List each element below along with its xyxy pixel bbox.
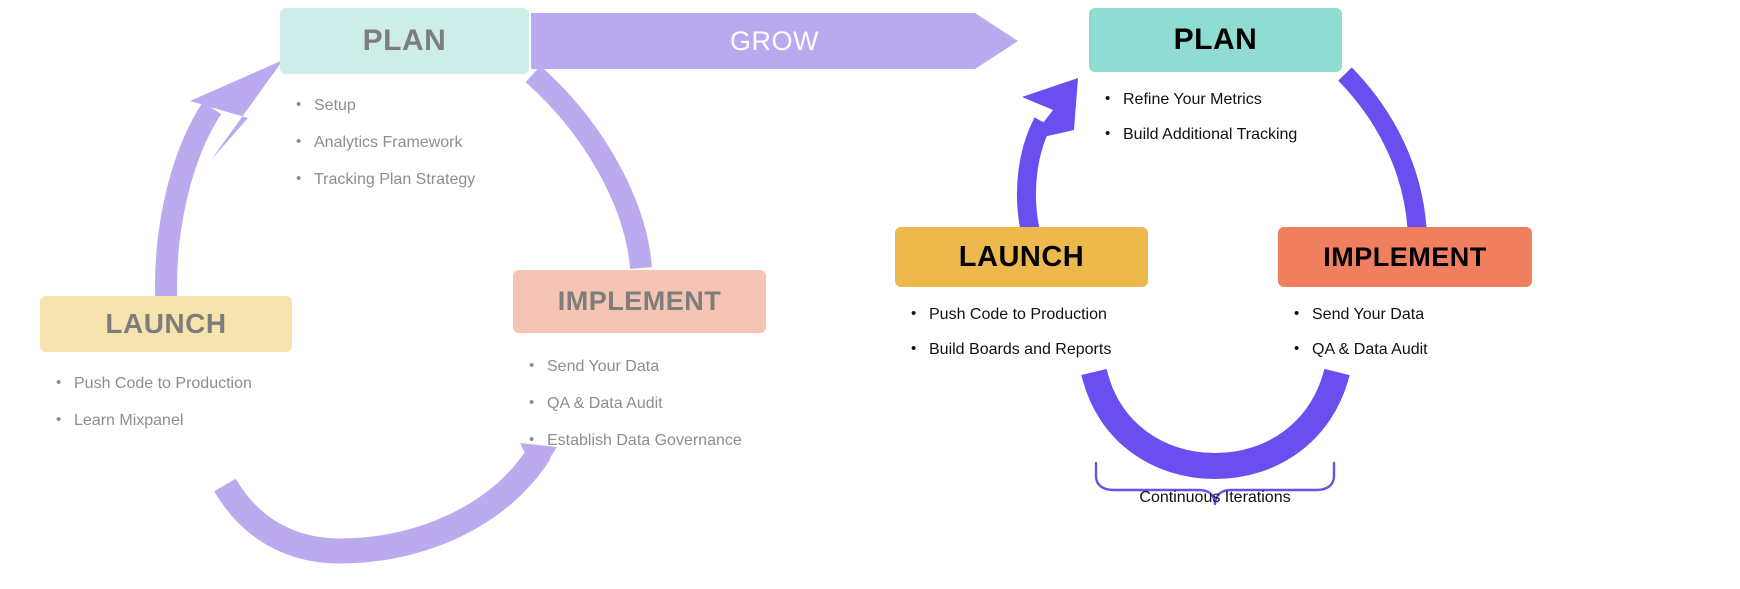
list-item: • QA & Data Audit [1294,340,1532,359]
node-launch-growth-header: LAUNCH [895,227,1148,287]
list-item: • Send Your Data [529,357,766,376]
bullet-label: Establish Data Governance [547,431,766,450]
bullet-label: Analytics Framework [314,133,529,152]
node-plan-initial: PLAN • Setup • Analytics Framework • Tra… [280,8,529,190]
continuous-iterations-text: Continuous Iterations [1139,489,1290,506]
node-launch-growth-title: LAUNCH [959,241,1084,274]
bullet-label: QA & Data Audit [1312,340,1532,359]
bullet-icon: • [56,374,74,393]
node-launch-initial-header: LAUNCH [40,296,292,352]
grow-banner: GROW [531,13,1018,69]
bullet-icon: • [1105,90,1123,109]
list-item: • Learn Mixpanel [56,411,292,430]
node-implement-initial: IMPLEMENT • Send Your Data • QA & Data A… [513,270,766,451]
bullet-label: Learn Mixpanel [74,411,292,430]
node-plan-growth-title: PLAN [1174,23,1258,57]
node-plan-initial-title: PLAN [363,24,447,58]
bullet-icon: • [529,431,547,450]
node-implement-initial-bullets: • Send Your Data • QA & Data Audit • Est… [529,357,766,451]
bullet-label: Tracking Plan Strategy [314,170,529,189]
node-plan-growth-header: PLAN [1089,8,1342,72]
bullet-icon: • [296,96,314,115]
node-launch-initial-title: LAUNCH [105,308,226,340]
node-implement-initial-title: IMPLEMENT [558,286,722,317]
arrow-implement-to-launch-right [1094,372,1337,466]
bullet-label: Send Your Data [547,357,766,376]
arrow-launch-to-plan-right [1026,122,1043,230]
list-item: • QA & Data Audit [529,394,766,413]
list-item: • Build Additional Tracking [1105,125,1342,144]
list-item: • Push Code to Production [911,305,1148,324]
list-item: • Analytics Framework [296,133,529,152]
bullet-label: Build Additional Tracking [1123,125,1342,144]
node-plan-growth-bullets: • Refine Your Metrics • Build Additional… [1105,90,1342,144]
list-item: • Tracking Plan Strategy [296,170,529,189]
bullet-icon: • [1105,125,1123,144]
arrow-plan-to-implement-left [533,74,641,268]
node-launch-initial: LAUNCH • Push Code to Production • Learn… [40,296,292,430]
node-implement-growth: IMPLEMENT • Send Your Data • QA & Data A… [1278,227,1532,359]
grow-banner-label: GROW [730,26,819,57]
arrowhead-launch-to-plan-right [1022,78,1078,140]
bullet-icon: • [529,394,547,413]
node-launch-growth-bullets: • Push Code to Production • Build Boards… [911,305,1148,359]
arrow-implement-to-launch-left [225,452,540,551]
arrowhead-launch-to-plan-left [190,60,283,160]
bullet-icon: • [1294,340,1312,359]
node-plan-initial-bullets: • Setup • Analytics Framework • Tracking… [296,96,529,190]
bullet-icon: • [296,133,314,152]
list-item: • Send Your Data [1294,305,1532,324]
node-launch-growth: LAUNCH • Push Code to Production • Build… [895,227,1148,359]
bullet-label: Setup [314,96,529,115]
node-launch-initial-bullets: • Push Code to Production • Learn Mixpan… [56,374,292,430]
bullet-label: Refine Your Metrics [1123,90,1342,109]
bullet-label: Push Code to Production [74,374,292,393]
bullet-label: Push Code to Production [929,305,1148,324]
node-implement-growth-title: IMPLEMENT [1323,242,1487,273]
bullet-icon: • [911,305,929,324]
list-item: • Establish Data Governance [529,431,766,450]
bullet-icon: • [911,340,929,359]
node-implement-initial-header: IMPLEMENT [513,270,766,333]
list-item: • Refine Your Metrics [1105,90,1342,109]
arrow-plan-to-implement-right [1345,74,1417,228]
diagram-canvas: GROW PLAN • Setup • Analytics Framework … [0,0,1740,589]
node-plan-initial-header: PLAN [280,8,529,74]
node-implement-growth-bullets: • Send Your Data • QA & Data Audit [1294,305,1532,359]
continuous-iterations-label: Continuous Iterations [1065,489,1365,507]
node-implement-growth-header: IMPLEMENT [1278,227,1532,287]
bullet-label: Build Boards and Reports [929,340,1148,359]
bullet-icon: • [56,411,74,430]
list-item: • Push Code to Production [56,374,292,393]
bullet-label: Send Your Data [1312,305,1532,324]
node-plan-growth: PLAN • Refine Your Metrics • Build Addit… [1089,8,1342,144]
bullet-icon: • [296,170,314,189]
bullet-icon: • [1294,305,1312,324]
list-item: • Setup [296,96,529,115]
bullet-icon: • [529,357,547,376]
arrow-launch-to-plan-left [166,108,212,322]
bullet-label: QA & Data Audit [547,394,766,413]
list-item: • Build Boards and Reports [911,340,1148,359]
